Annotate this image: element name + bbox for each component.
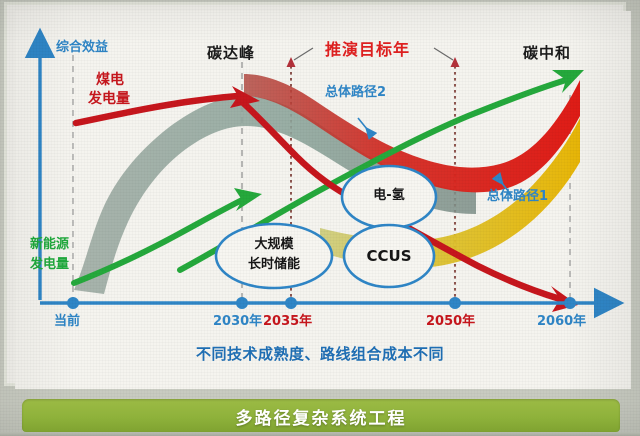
pointer-left-target-year	[294, 48, 313, 60]
bottom-banner-title: 多路径复杂系统工程	[22, 404, 620, 429]
marker-2050-arrowhead	[451, 57, 460, 67]
chart-caption: 不同技术成熟度、路线组合成本不同	[0, 346, 640, 363]
photo-bottom-edge	[0, 432, 640, 436]
bubble-label-storage-line2: 长时储能	[218, 258, 330, 273]
tick-dot-2050[interactable]	[449, 297, 461, 309]
tick-label-2050: 2050年	[426, 315, 475, 330]
bubble-label-storage-line1: 大规模	[224, 238, 324, 253]
label-renewable-line2: 发电量	[30, 258, 69, 273]
tick-dot-2030[interactable]	[236, 297, 248, 309]
tick-dot-2060[interactable]	[564, 297, 576, 309]
y-axis-label: 综合效益	[56, 41, 108, 56]
screenshot-root: 综合效益 煤电 发电量 新能源 发电量 碳达峰 推演目标年 碳中和 总体路径2 …	[0, 0, 640, 436]
tick-label-2060: 2060年	[537, 315, 586, 330]
label-target-year: 推演目标年	[325, 41, 410, 59]
marker-2035-arrowhead	[287, 57, 296, 67]
pointer-right-target-year	[434, 48, 453, 60]
label-renewable-line1: 新能源	[30, 238, 69, 253]
tick-dot-2035[interactable]	[285, 297, 297, 309]
label-coal-line1: 煤电	[96, 73, 124, 89]
bubble-long-duration-storage[interactable]	[216, 224, 332, 288]
tick-dot-current[interactable]	[67, 297, 79, 309]
tick-label-2035: 2035年	[263, 315, 312, 330]
bubble-label-electro-hydrogen: 电-氢	[344, 189, 434, 204]
label-pathway-1: 总体路径1	[487, 190, 548, 205]
label-carbon-neutral: 碳中和	[523, 45, 571, 62]
bottom-banner: 多路径复杂系统工程	[22, 399, 620, 432]
tick-label-current: 当前	[54, 315, 80, 330]
label-pathway-2: 总体路径2	[325, 86, 386, 101]
bubble-label-ccus: CCUS	[346, 248, 432, 265]
label-coal-line2: 发电量	[88, 92, 130, 108]
label-carbon-peak: 碳达峰	[207, 45, 255, 62]
tick-label-2030: 2030年	[213, 315, 262, 330]
